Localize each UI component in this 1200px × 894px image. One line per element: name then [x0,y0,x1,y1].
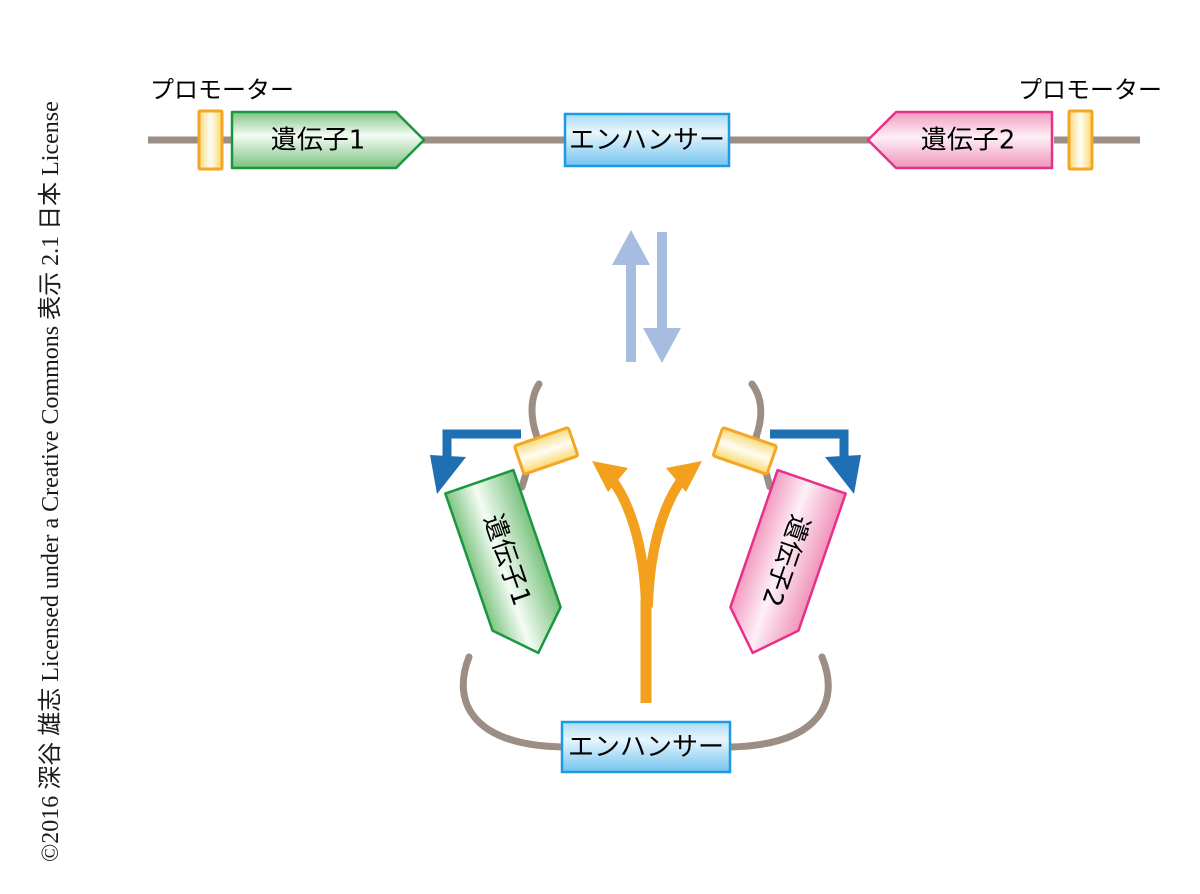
activation-arrow-right-branch [648,481,681,605]
gene1-looped[interactable]: 遺伝子1 [445,470,572,665]
promoter-right-label: プロモーター [1018,76,1162,104]
activation-arrow-left-branch [613,481,646,605]
promoter-left[interactable] [199,111,222,169]
arrow-up-icon [612,230,650,362]
looped-genome-view: 遺伝子1 遺伝子2 エンハンサー [430,384,861,772]
dna-tail-right [752,384,761,437]
arrow-down-shape [643,232,681,363]
promoter-right[interactable] [1069,111,1092,169]
diagram-canvas: ©2016 深谷 雄志 Licensed under a Creative Co… [0,0,1200,894]
enhancer-label: エンハンサー [569,126,725,156]
arrow-down-icon [643,232,681,363]
enhancer-looped[interactable]: エンハンサー [562,722,730,772]
enhancer-activation-fork-arrow-icon [592,461,702,703]
promoter-looped-right-box[interactable] [713,427,777,474]
promoter-right-box[interactable] [1069,111,1092,169]
dna-tail-left [532,384,539,437]
gene1-label: 遺伝子1 [271,126,366,156]
dna-loop-right [730,657,828,747]
linear-genome-view: プロモーター 遺伝子1 エンハンサー 遺伝子2 プロモーター [148,76,1162,169]
promoter-looped-left[interactable] [514,427,578,474]
promoter-left-label: プロモーター [150,76,294,104]
gene2-label: 遺伝子2 [921,126,1016,156]
promoter-looped-left-box[interactable] [514,427,578,474]
gene2-linear[interactable]: 遺伝子2 [868,112,1052,168]
gene1-linear[interactable]: 遺伝子1 [232,112,424,168]
dna-loop-left [463,657,562,747]
enhancer-linear[interactable]: エンハンサー [565,114,729,166]
promoter-left-box[interactable] [199,111,222,169]
copyright-notice: ©2016 深谷 雄志 Licensed under a Creative Co… [37,101,64,862]
copyright-text: ©2016 深谷 雄志 Licensed under a Creative Co… [37,101,64,862]
enhancer-promoter-diagram: ©2016 深谷 雄志 Licensed under a Creative Co… [0,0,1200,894]
reversible-state-arrows [612,230,681,363]
gene2-looped[interactable]: 遺伝子2 [719,470,846,665]
arrow-up-shape [612,230,650,362]
promoter-looped-right[interactable] [713,427,777,474]
enhancer-looped-label: エンハンサー [568,733,724,763]
